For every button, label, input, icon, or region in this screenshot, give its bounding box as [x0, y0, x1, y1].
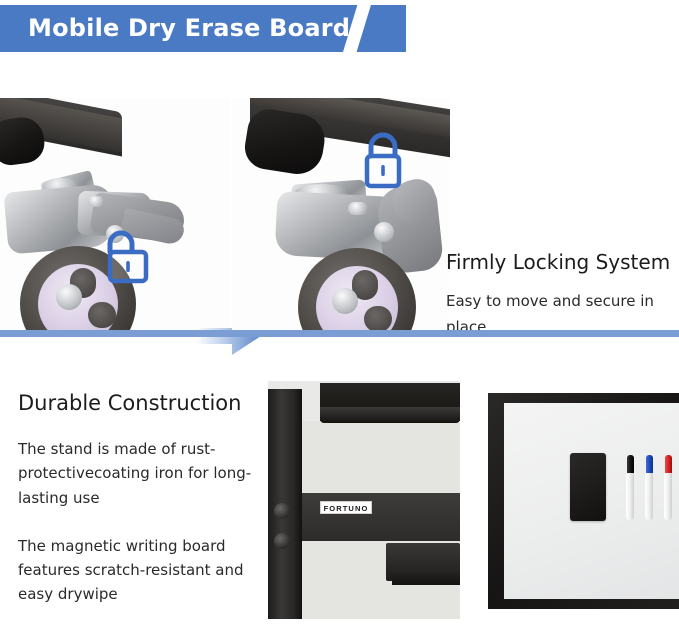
locking-system-text: Firmly Locking System Easy to move and s… — [446, 250, 679, 341]
caster-locked-photo — [232, 98, 450, 332]
durable-construction-text: Durable Construction The stand is made o… — [18, 391, 266, 631]
caster-axle-cap — [332, 288, 358, 314]
black-marker — [626, 455, 634, 520]
magnetic-eraser — [570, 453, 606, 521]
durable-paragraph-2: The magnetic writing board features scra… — [18, 534, 266, 607]
stand-detail-photo: FORTUNO — [268, 381, 460, 619]
page-title: Mobile Dry Erase Board — [28, 14, 350, 42]
stand-screw-top — [274, 503, 290, 519]
marker-cap — [627, 455, 634, 473]
padlock-closed-icon — [354, 128, 412, 192]
caster-unlocked-photo — [0, 98, 230, 332]
brake-pivot-bolt — [374, 222, 394, 242]
fork-top-bolt — [88, 196, 104, 207]
fork-top-bolt — [348, 202, 368, 215]
durable-construction-section: Durable Construction The stand is made o… — [0, 381, 679, 619]
locking-system-heading: Firmly Locking System — [446, 250, 679, 274]
blue-marker — [645, 455, 653, 520]
board-frame-edge — [320, 407, 460, 421]
brand-label: FORTUNO — [320, 501, 372, 514]
hub-spoke-gap-2 — [88, 302, 116, 328]
marker-cap — [665, 455, 672, 473]
stand-panel-upper — [302, 421, 460, 493]
hub-spoke-gap-2 — [364, 306, 392, 332]
accessory-tray-front — [392, 569, 460, 585]
durable-construction-heading: Durable Construction — [18, 391, 266, 415]
caster-axle-cap — [56, 284, 82, 310]
marker-cap — [646, 455, 653, 473]
marker-body — [645, 471, 653, 520]
marker-body — [664, 471, 672, 520]
durable-paragraph-1: The stand is made of rust-protectivecoat… — [18, 437, 266, 510]
padlock-open-icon — [96, 226, 152, 288]
stand-screw-bottom — [274, 533, 290, 549]
header-banner: Mobile Dry Erase Board — [0, 5, 406, 52]
locking-system-section: Firmly Locking System Easy to move and s… — [0, 98, 679, 332]
marker-body — [626, 471, 634, 520]
section-divider — [0, 330, 679, 337]
infographic-page: Mobile Dry Erase Board — [0, 0, 679, 619]
whiteboard-accessories-photo — [478, 381, 679, 619]
red-marker — [664, 455, 672, 520]
